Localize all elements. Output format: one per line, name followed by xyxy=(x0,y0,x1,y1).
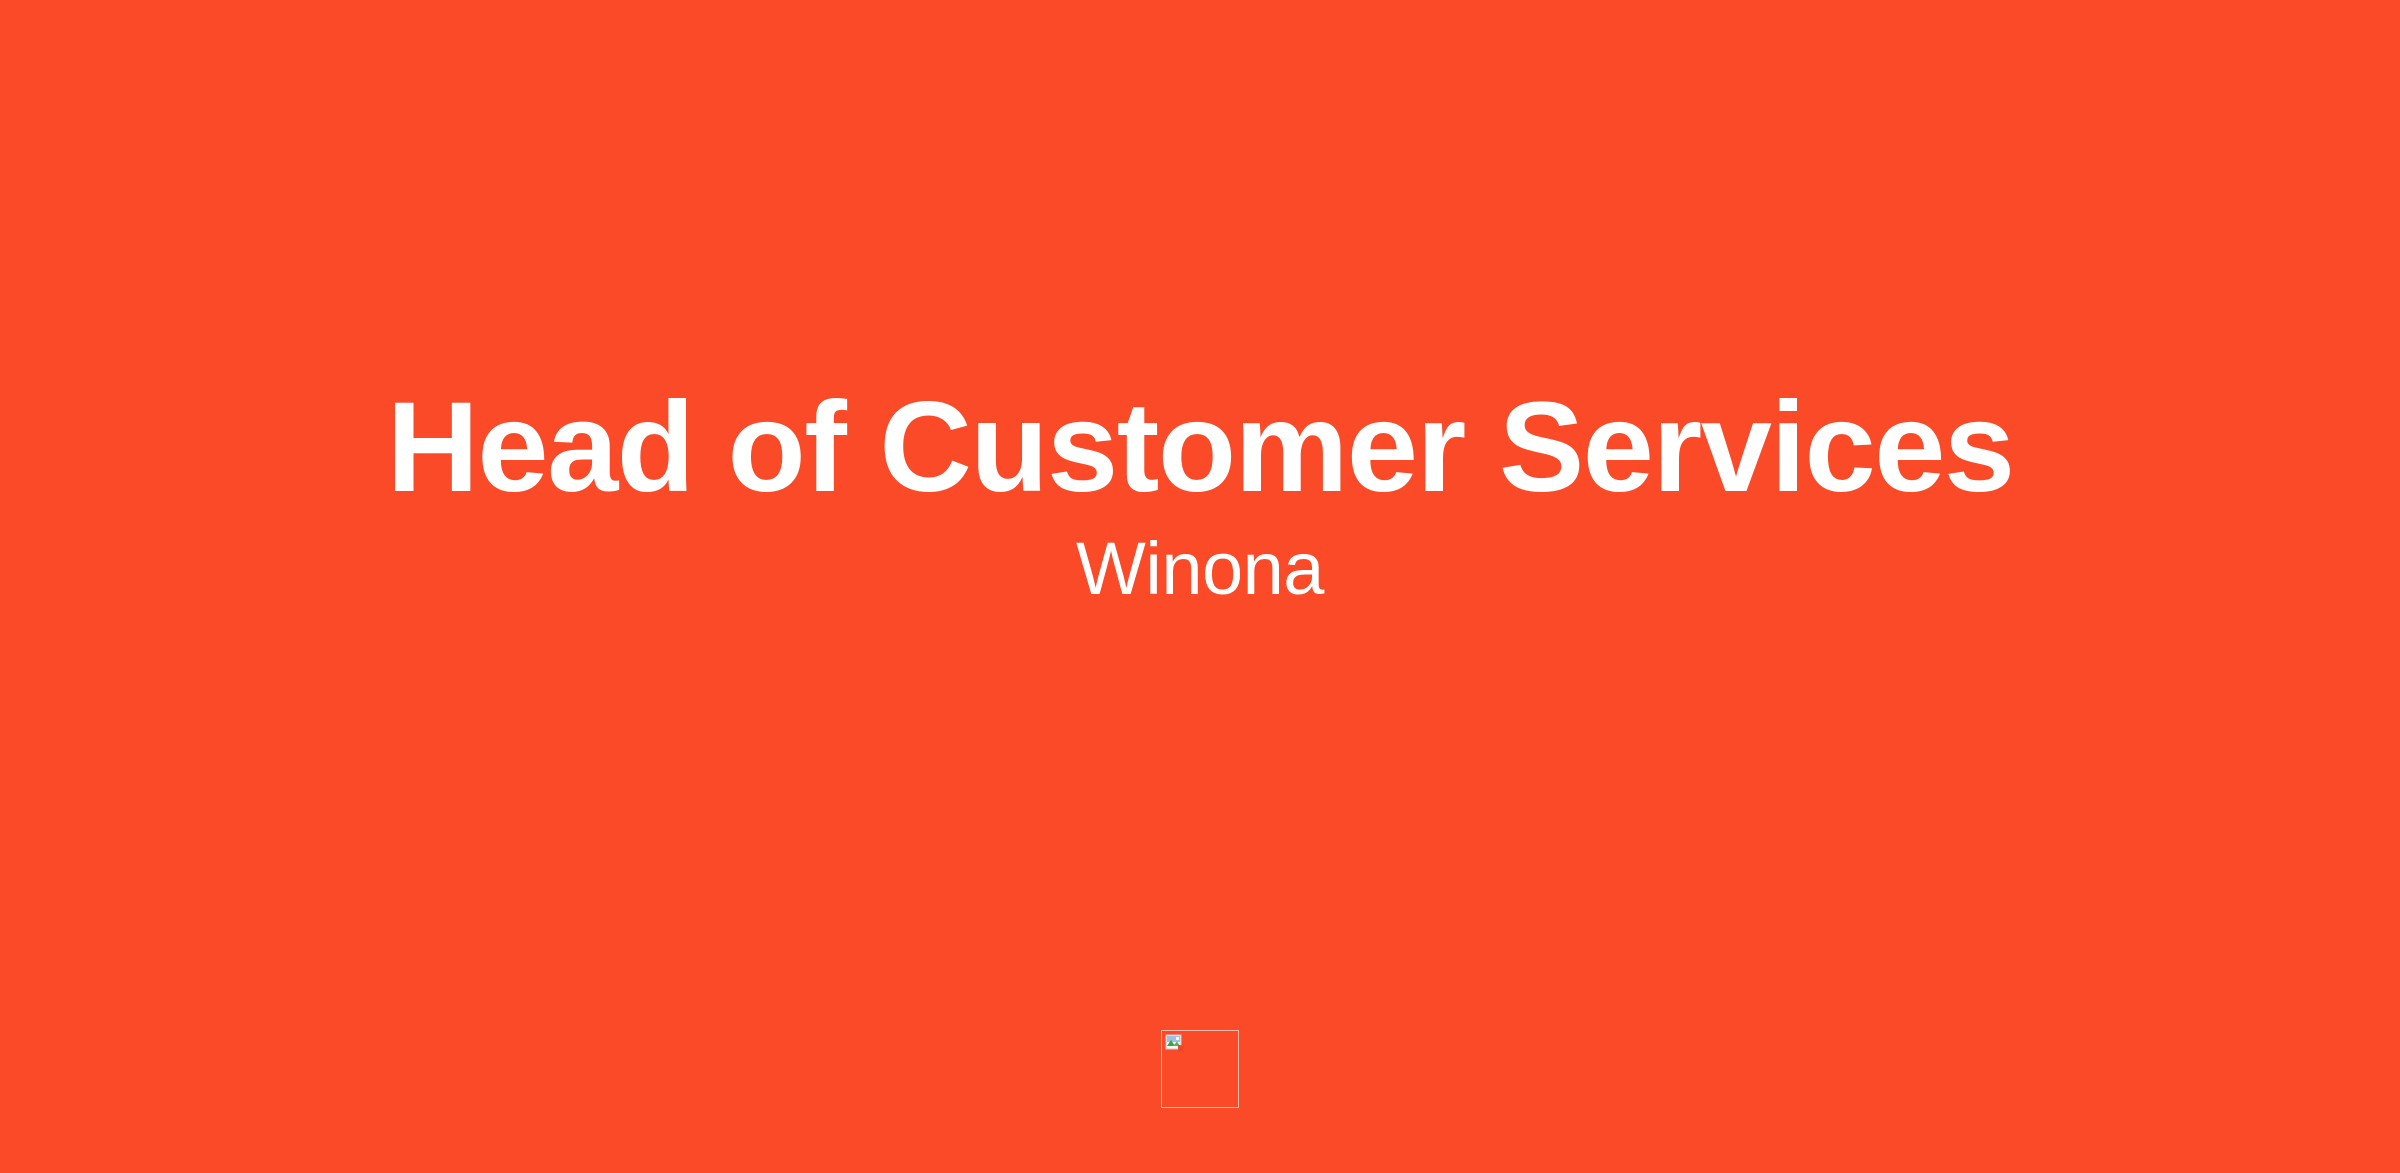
slide-canvas: Head of Customer Services Winona xyxy=(0,0,2400,1173)
media-slot xyxy=(0,1030,2400,1108)
page-title: Head of Customer Services xyxy=(0,372,2400,523)
broken-image-icon xyxy=(1165,1034,1187,1054)
broken-image-placeholder[interactable] xyxy=(1161,1030,1239,1108)
hero-block: Head of Customer Services Winona xyxy=(0,0,2400,612)
page-subtitle: Winona xyxy=(0,525,2400,612)
